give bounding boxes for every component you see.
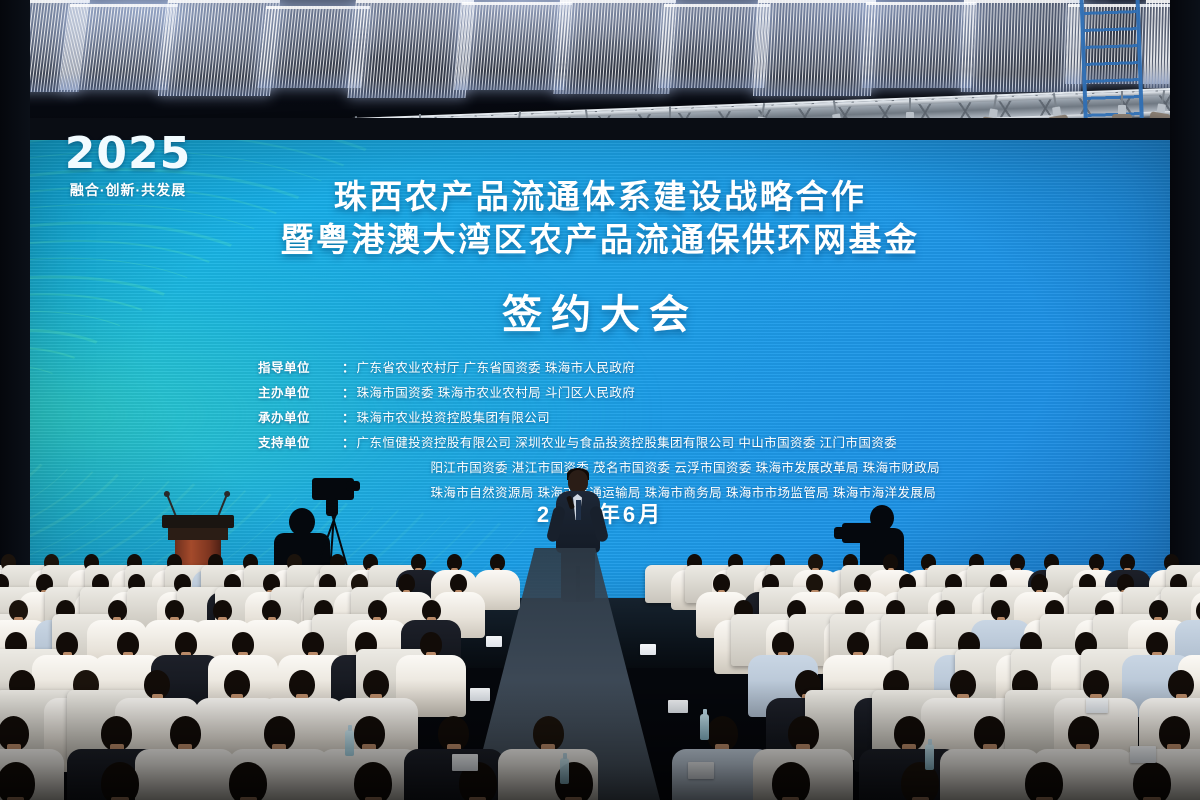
headline: 签约大会 — [0, 282, 1200, 340]
ceiling-light-fixture — [553, 0, 676, 94]
conference-hall-photo: 2025 融合·创新·共发展 珠西农产品流通体系建设战略合作 暨粤港澳大湾区农产… — [0, 0, 1200, 800]
title-line-1: 珠西农产品流通体系建设战略合作 — [0, 176, 1200, 219]
attendee-head — [354, 762, 392, 800]
unit-label: 承办单位 — [258, 406, 342, 431]
audience-member — [729, 762, 853, 800]
attendee-head — [229, 762, 267, 800]
water-bottle — [700, 714, 709, 740]
audience-member — [858, 762, 982, 800]
audience-member — [982, 762, 1106, 800]
seat-name-card — [452, 754, 478, 771]
title-block: 珠西农产品流通体系建设战略合作 暨粤港澳大湾区农产品流通保供环网基金 签约大会 — [0, 176, 1200, 340]
attendee-head — [1025, 762, 1063, 800]
unit-label: 支持单位 — [258, 431, 342, 456]
seat-name-card — [486, 636, 502, 647]
unit-label: 主办单位 — [258, 381, 342, 406]
audience-member — [186, 762, 310, 800]
unit-value: 广东恒健投资控股有限公司 深圳农业与食品投资控股集团有限公司 中山市国资委 江门… — [357, 431, 898, 456]
attendee-head — [772, 762, 810, 800]
audience — [0, 548, 1200, 800]
audience-member — [1194, 762, 1200, 800]
attendee-head — [101, 762, 139, 800]
attendee-head — [1133, 762, 1171, 800]
audience-member — [1090, 762, 1200, 800]
unit-row: 承办单位：珠海市农业投资控股集团有限公司 — [0, 406, 1200, 431]
unit-colon: ： — [342, 431, 355, 456]
attendee-head — [1196, 600, 1200, 621]
attendee-head — [0, 762, 35, 800]
seat-name-card — [1086, 698, 1108, 713]
unit-colon: ： — [342, 356, 355, 381]
seat-name-card — [640, 644, 656, 655]
ceiling-light-fixture — [753, 0, 876, 96]
unit-row: 主办单位：珠海市国资委 珠海市农业农村局 斗门区人民政府 — [0, 381, 1200, 406]
water-bottle — [925, 744, 934, 770]
seat-name-card — [470, 688, 490, 701]
water-bottle — [560, 758, 569, 784]
shoulder-camera — [842, 523, 876, 543]
unit-colon: ： — [342, 406, 355, 431]
unit-label: 指导单位 — [258, 356, 342, 381]
unit-value: 广东省农业农村厅 广东省国资委 珠海市人民政府 — [357, 356, 636, 381]
audience-member — [512, 762, 636, 800]
audience-member — [58, 762, 182, 800]
unit-value: 珠海市国资委 珠海市农业农村局 斗门区人民政府 — [357, 381, 636, 406]
logo-year: 2025 — [48, 132, 208, 176]
seat-name-card — [1130, 746, 1156, 763]
water-bottle — [345, 730, 354, 756]
title-line-2: 暨粤港澳大湾区农产品流通保供环网基金 — [0, 219, 1200, 262]
ceiling-light-fixture — [861, 2, 976, 88]
unit-row: 支持单位：广东恒健投资控股有限公司 深圳农业与食品投资控股集团有限公司 中山市国… — [0, 431, 1200, 456]
seat-name-card — [688, 762, 714, 779]
unit-value: 阳江市国资委 湛江市国资委 茂名市国资委 云浮市国资委 珠海市发展改革局 珠海市… — [431, 456, 941, 481]
unit-value: 珠海市农业投资控股集团有限公司 — [357, 406, 551, 431]
seat-name-card — [668, 700, 688, 713]
unit-row: 指导单位：广东省农业农村厅 广东省国资委 珠海市人民政府 — [0, 356, 1200, 381]
unit-colon: ： — [342, 381, 355, 406]
